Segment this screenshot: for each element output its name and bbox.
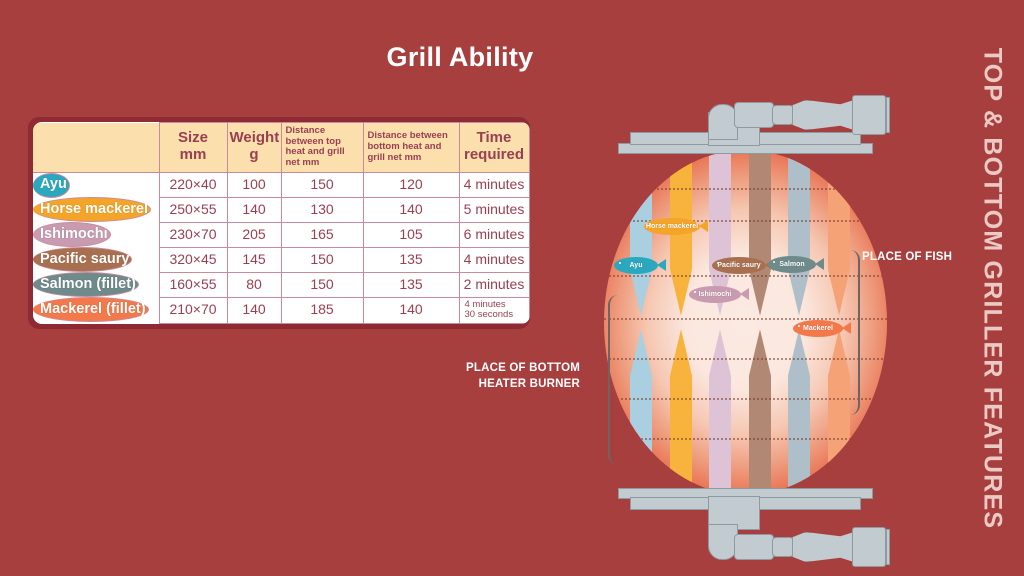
- header-distance-top: Distance between top heat and grill net …: [281, 123, 363, 173]
- row-distance-bottom: 140: [363, 197, 459, 222]
- row-size: 320×45: [159, 247, 227, 272]
- band-mackerel-down-arrow: [828, 150, 850, 316]
- header-blank: [33, 123, 159, 173]
- fish-marker-horse-mackerel: Horse mackerel: [644, 218, 700, 235]
- header-size: Size mm: [159, 123, 227, 173]
- row-fish-name: Mackerel (fillet): [33, 297, 149, 322]
- table-row: Salmon (fillet)160×55801501352 minutes: [33, 272, 529, 297]
- grill-net-line: [604, 438, 887, 440]
- fish-eye-icon: [694, 291, 696, 293]
- side-banner-label: TOP & BOTTOM GRILLER FEATURES: [978, 47, 1007, 529]
- row-size: 250×55: [159, 197, 227, 222]
- side-banner: TOP & BOTTOM GRILLER FEATURES: [960, 0, 1024, 576]
- bottom-burner-line-2: HEATER BURNER: [479, 378, 580, 390]
- row-time: 6 minutes: [459, 222, 529, 247]
- fish-marker-salmon: Salmon: [768, 256, 816, 273]
- fish-eye-icon: [717, 262, 719, 264]
- row-time: 4 minutes: [459, 172, 529, 197]
- row-distance-bottom: 120: [363, 172, 459, 197]
- row-distance-top: 165: [281, 222, 363, 247]
- row-fish-name: Ayu: [33, 173, 70, 198]
- table-header-row: Size mm Weight g Distance between top he…: [33, 123, 529, 173]
- row-distance-top: 150: [281, 247, 363, 272]
- band-salmon-down-arrow: [788, 150, 810, 316]
- fish-marker-mackerel: Mackerel: [793, 320, 843, 337]
- bottom-burner-bracket: [608, 295, 620, 465]
- row-weight: 100: [227, 172, 281, 197]
- fish-marker-label: Pacific saury: [717, 262, 760, 269]
- band-ayu: [630, 150, 652, 495]
- row-time: 4 minutes: [459, 247, 529, 272]
- fish-eye-icon: [773, 261, 775, 263]
- bottom-heater-burner: [618, 488, 873, 534]
- label-place-of-bottom-heater-burner: PLACE OF BOTTOM HEATER BURNER: [455, 361, 580, 392]
- row-size: 210×70: [159, 297, 227, 323]
- row-weight: 140: [227, 297, 281, 323]
- row-weight: 80: [227, 272, 281, 297]
- row-size: 160×55: [159, 272, 227, 297]
- row-time: 4 minutes30 seconds: [459, 297, 529, 323]
- grill-ability-table: Size mm Weight g Distance between top he…: [28, 117, 530, 329]
- row-distance-bottom: 135: [363, 247, 459, 272]
- table-row: Horse mackerel250×551401301405 minutes: [33, 197, 529, 222]
- band-mackerel-up-arrow: [828, 329, 850, 495]
- row-size: 220×40: [159, 172, 227, 197]
- row-distance-top: 130: [281, 197, 363, 222]
- grill-net-line: [604, 188, 887, 190]
- row-weight: 145: [227, 247, 281, 272]
- top-pipe-cap: [852, 95, 886, 135]
- fish-marker-label: Horse mackerel: [646, 223, 698, 230]
- fish-marker-ayu: Ayu: [614, 257, 658, 274]
- header-time-required: Time required: [459, 123, 529, 173]
- row-fish-name: Pacific saury: [33, 247, 132, 272]
- grill-net-line: [604, 275, 887, 277]
- bottom-pipe-ring: [886, 529, 890, 565]
- band-ayu-up-arrow: [630, 329, 652, 495]
- row-fish-name: Salmon (fillet): [33, 272, 139, 297]
- fish-marker-pacific-saury: Pacific saury: [712, 257, 766, 274]
- fish-marker-label: Mackerel: [803, 325, 833, 332]
- top-pipe-knob: [772, 105, 794, 125]
- header-distance-bottom: Distance between bottom heat and grill n…: [363, 123, 459, 173]
- row-distance-bottom: 105: [363, 222, 459, 247]
- page-title: Grill Ability: [0, 42, 920, 73]
- row-weight: 205: [227, 222, 281, 247]
- row-distance-top: 150: [281, 172, 363, 197]
- row-distance-top: 150: [281, 272, 363, 297]
- fish-marker-ishimochi: Ishimochi: [689, 286, 741, 303]
- top-pipe-cone: [792, 100, 854, 130]
- griller-diagram: AyuHorse mackerelIshimochiPacific sauryS…: [586, 90, 906, 555]
- band-pacific-saury: [749, 150, 771, 495]
- row-size: 230×70: [159, 222, 227, 247]
- fish-eye-icon: [649, 223, 651, 225]
- table-row: Mackerel (fillet)210×701401851404 minute…: [33, 297, 529, 323]
- header-weight: Weight g: [227, 123, 281, 173]
- top-pipe-segment: [734, 102, 774, 128]
- bottom-pipe-knob: [772, 537, 794, 557]
- row-time: 5 minutes: [459, 197, 529, 222]
- grill-net-line: [604, 318, 887, 320]
- row-distance-bottom: 140: [363, 297, 459, 323]
- row-time: 2 minutes: [459, 272, 529, 297]
- bottom-pipe-segment: [734, 534, 774, 560]
- band-pacific-saury-down-arrow: [749, 150, 771, 316]
- grill-net-line: [604, 398, 887, 400]
- grill-net-line: [604, 358, 887, 360]
- band-ishimochi: [709, 150, 731, 495]
- band-horse-mackerel: [670, 150, 692, 495]
- bottom-pipe-cap: [852, 527, 886, 567]
- table-row: Ishimochi230×702051651056 minutes: [33, 222, 529, 247]
- band-horse-mackerel-up-arrow: [670, 329, 692, 495]
- bottom-pipe-cone: [792, 532, 854, 562]
- fish-eye-icon: [619, 262, 621, 264]
- bottom-burner-line-1: PLACE OF BOTTOM: [466, 362, 580, 374]
- fish-marker-label: Ayu: [630, 262, 643, 269]
- row-distance-top: 185: [281, 297, 363, 323]
- table-row: Pacific saury320×451451501354 minutes: [33, 247, 529, 272]
- fish-marker-label: Salmon: [779, 261, 804, 268]
- table-row: Ayu220×401001501204 minutes: [33, 172, 529, 197]
- row-fish-name: Ishimochi: [33, 222, 111, 247]
- row-distance-bottom: 135: [363, 272, 459, 297]
- table-body: Ayu220×401001501204 minutesHorse mackere…: [33, 172, 529, 323]
- band-salmon-up-arrow: [788, 329, 810, 495]
- row-weight: 140: [227, 197, 281, 222]
- fish-eye-icon: [798, 325, 800, 327]
- band-ishimochi-up-arrow: [709, 329, 731, 495]
- band-ayu-down-arrow: [630, 150, 652, 316]
- label-place-of-fish: PLACE OF FISH: [862, 250, 952, 266]
- band-pacific-saury-up-arrow: [749, 329, 771, 495]
- fish-marker-label: Ishimochi: [699, 291, 732, 298]
- top-pipe-ring: [886, 97, 890, 133]
- row-fish-name: Horse mackerel: [33, 197, 151, 222]
